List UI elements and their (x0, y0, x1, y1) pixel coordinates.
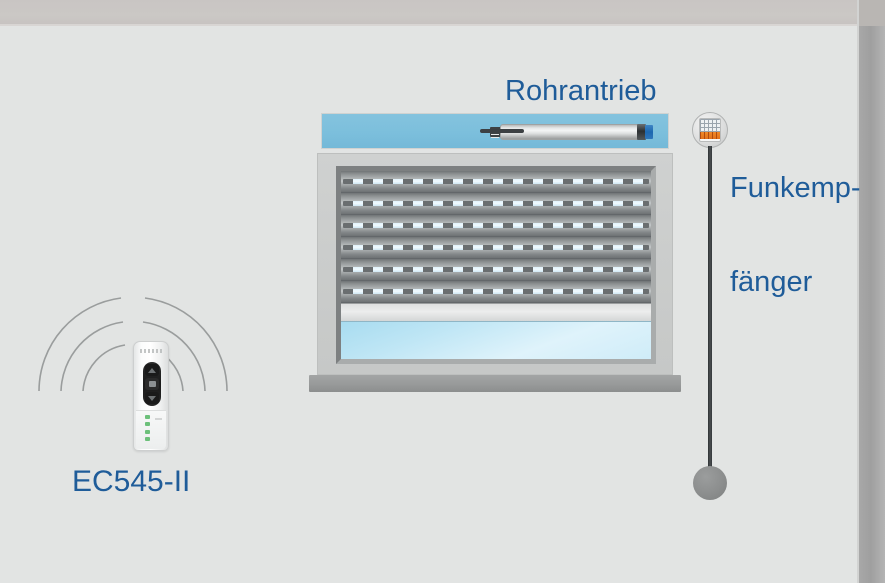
slat-perforation-row (343, 179, 649, 184)
remote-channel-slot (155, 418, 162, 420)
shutter-slat (341, 215, 651, 237)
window-sill (309, 375, 681, 392)
triangle-down-icon (148, 396, 156, 401)
slat-perforation-row (343, 267, 649, 272)
motor-cable-gland (645, 125, 653, 139)
led-indicator (145, 430, 150, 434)
radio-receiver-icon (692, 112, 728, 148)
slat-perforation-row (343, 289, 649, 294)
slat-perforation-row (343, 201, 649, 206)
slat-perforation-row (343, 245, 649, 250)
ceiling-bevel-line (0, 24, 862, 26)
window-frame-inner (336, 166, 656, 364)
led-indicator (145, 422, 150, 426)
brand-logo-icon (140, 349, 164, 353)
shutter-slat (341, 259, 651, 281)
cable-plug-connector (693, 466, 727, 500)
slat-perforation-row (343, 223, 649, 228)
window-glass-pane (341, 321, 651, 359)
remote-control-group (33, 283, 233, 463)
remote-lower-panel (136, 410, 166, 449)
scene-canvas: Rohrantrieb Funkemp- fänger EC545-II (0, 0, 885, 583)
ceiling-band (0, 0, 862, 26)
label-ec545-ii: EC545-II (72, 466, 190, 498)
wall-right-top-bevel (859, 0, 885, 26)
power-cable (708, 146, 712, 476)
shutter-slat (341, 193, 651, 215)
receiver-terminal-block-icon (700, 132, 720, 139)
button-cluster (143, 362, 161, 406)
led-indicator-group (145, 415, 151, 441)
led-indicator (145, 437, 150, 441)
label-funkempfaenger-line1: Funkemp- (730, 173, 861, 204)
window-frame-outer (317, 153, 673, 375)
led-indicator (145, 415, 150, 419)
shutter-bottom-rail (341, 304, 651, 322)
shutter-slat (341, 281, 651, 303)
wall-right-face (859, 0, 885, 583)
motor-lead-wire (480, 129, 524, 133)
stop-button[interactable] (145, 378, 159, 390)
down-button[interactable] (145, 392, 159, 404)
up-button[interactable] (145, 364, 159, 376)
label-funkempfaenger-line2: fänger (730, 267, 861, 298)
shutter-curtain (341, 171, 651, 304)
receiver-circuit-grid-icon (700, 119, 720, 133)
shutter-slat (341, 171, 651, 193)
label-rohrantrieb: Rohrantrieb (505, 76, 657, 107)
square-stop-icon (149, 381, 156, 387)
receiver-body (699, 118, 721, 142)
label-funkempfaenger: Funkemp- fänger (730, 110, 861, 361)
shutter-slat (341, 237, 651, 259)
remote-control-device[interactable] (133, 341, 169, 451)
triangle-up-icon (148, 368, 156, 373)
